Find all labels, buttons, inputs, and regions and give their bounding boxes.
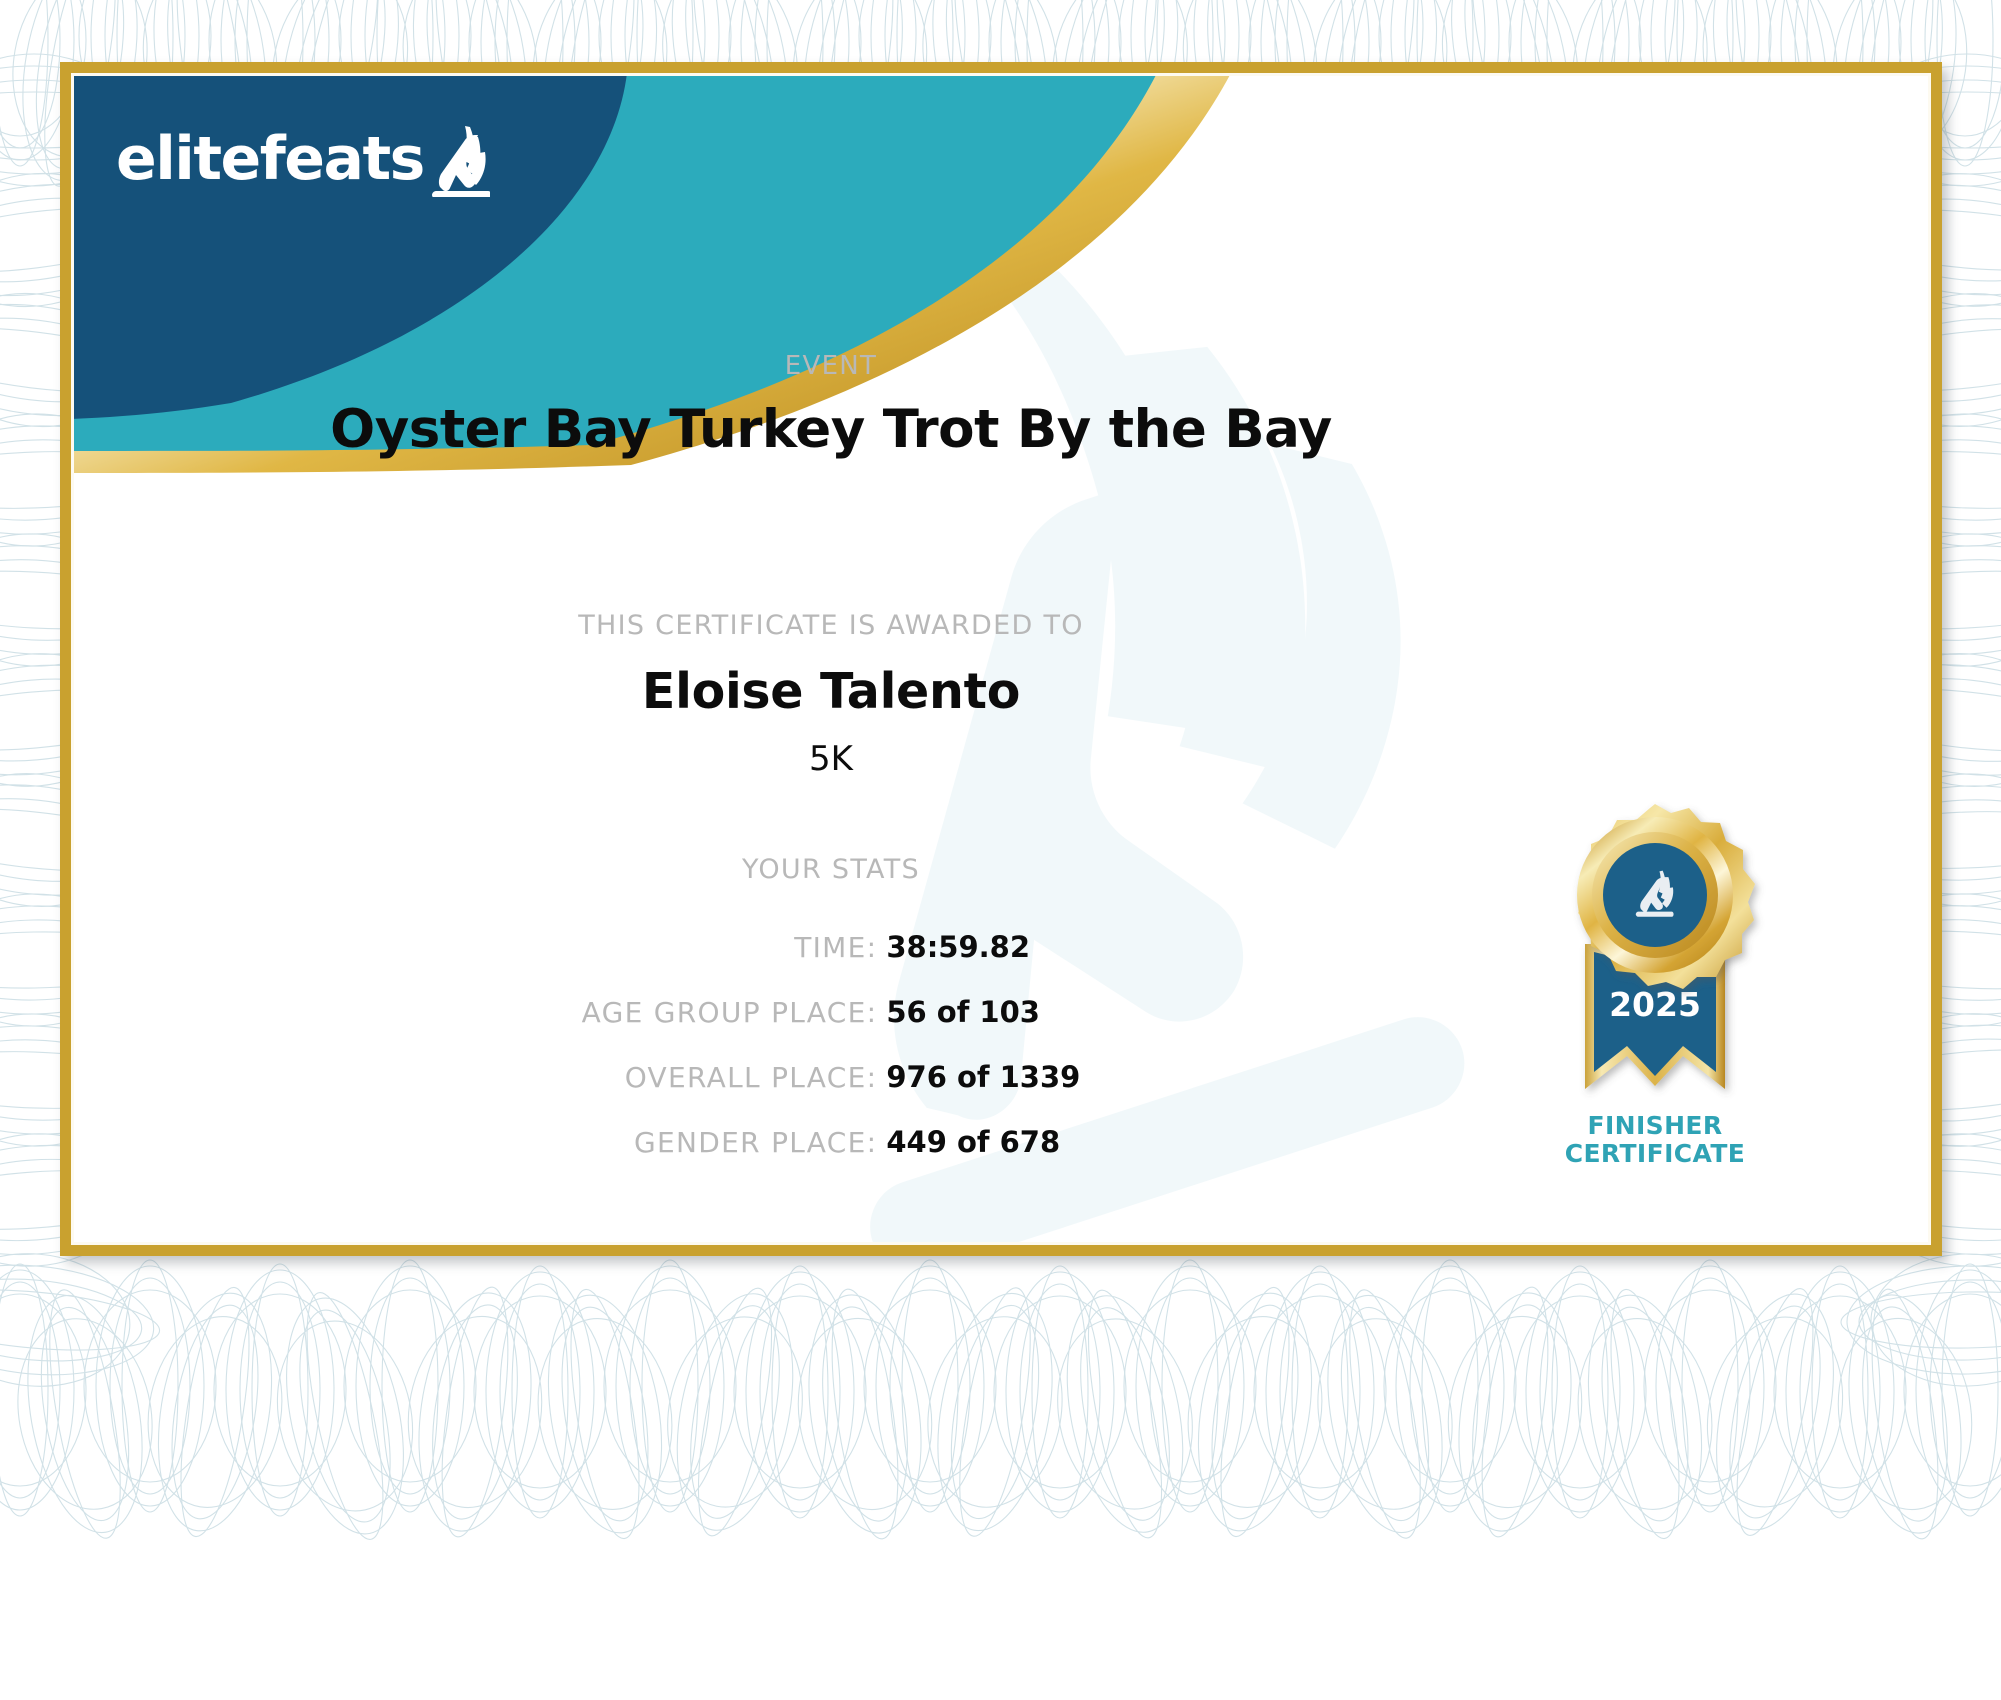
certificate-frame: elitefeats EVENT Oyster Bay Turkey Trot … [60,62,1942,1256]
badge-caption-line1: FINISHER [1530,1112,1780,1140]
stat-label: OVERALL PLACE: [582,1061,887,1094]
stat-value: 56 of 103 [886,995,1080,1029]
race-distance: 5K [71,739,1591,779]
stat-row-age-group-place: AGE GROUP PLACE: 56 of 103 [71,995,1591,1047]
stat-row-overall-place: OVERALL PLACE: 976 of 1339 [71,1060,1591,1112]
event-name: Oyster Bay Turkey Trot By the Bay [71,399,1591,460]
stat-value: 38:59.82 [886,930,1080,964]
event-label: EVENT [71,351,1591,381]
stat-label: AGE GROUP PLACE: [582,996,887,1029]
stat-value: 976 of 1339 [886,1060,1080,1094]
recipient-name: Eloise Talento [71,663,1591,720]
stat-row-gender-place: GENDER PLACE: 449 of 678 [71,1125,1591,1177]
finisher-medal-badge: 2025 [1530,794,1780,1194]
stats-heading: YOUR STATS [71,854,1591,885]
medal-graphic: 2025 [1530,794,1780,1124]
stat-value: 449 of 678 [886,1125,1080,1159]
stats-list: TIME: 38:59.82 AGE GROUP PLACE: 56 of 10… [71,930,1591,1190]
awarded-to-label: THIS CERTIFICATE IS AWARDED TO [71,610,1591,641]
stat-label: TIME: [582,931,887,964]
badge-year: 2025 [1609,985,1701,1024]
stat-label: GENDER PLACE: [582,1126,887,1159]
badge-caption-line2: CERTIFICATE [1530,1140,1780,1168]
stat-row-time: TIME: 38:59.82 [71,930,1591,982]
certificate-page: elitefeats EVENT Oyster Bay Turkey Trot … [0,0,2001,1700]
badge-caption: FINISHER CERTIFICATE [1530,1112,1780,1168]
